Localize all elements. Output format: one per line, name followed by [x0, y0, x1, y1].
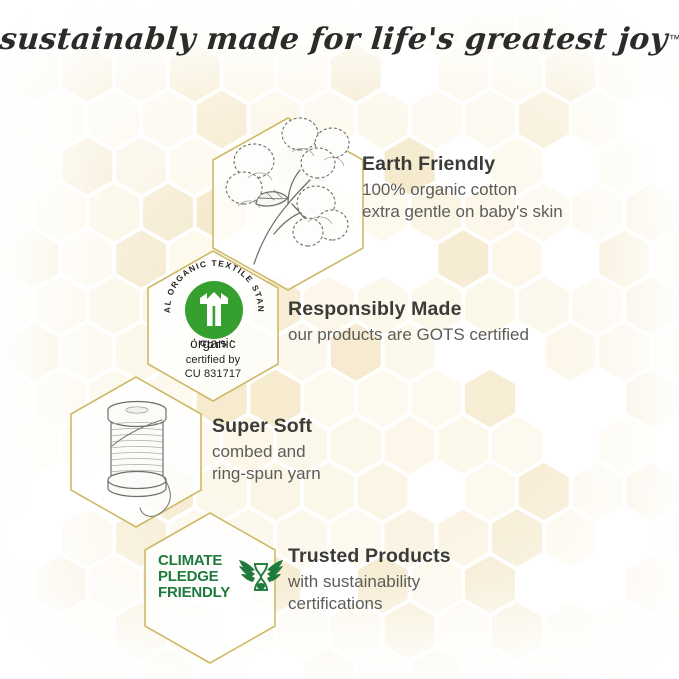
feature-line-responsibly-made-0: our products are GOTS certified: [288, 324, 529, 347]
tagline-text: sustainably made for life's greatest joy: [0, 22, 669, 57]
gots-license-number: CU 831717: [133, 368, 293, 382]
feature-line-trusted-products-1: certifications: [288, 593, 451, 616]
feature-title-trusted-products: Trusted Products: [288, 544, 451, 570]
gots-organic-label: organic: [133, 336, 293, 351]
feature-text-responsibly-made: Responsibly Made our products are GOTS c…: [288, 297, 529, 346]
infographic-canvas: sustainably made for life's greatest joy…: [0, 0, 679, 679]
cpf-line-1: CLIMATE: [158, 553, 230, 569]
feature-line-earth-friendly-0: 100% organic cotton: [362, 179, 563, 202]
feature-line-super-soft-1: ring-spun yarn: [212, 463, 321, 486]
climate-pledge-friendly-wordmark: CLIMATE PLEDGE FRIENDLY: [158, 553, 230, 602]
cpf-line-3: FRIENDLY: [158, 585, 230, 601]
feature-text-earth-friendly: Earth Friendly 100% organic cotton extra…: [362, 152, 563, 224]
gots-certified-by-label: certified by: [133, 354, 293, 368]
feature-title-earth-friendly: Earth Friendly: [362, 152, 563, 178]
feature-line-earth-friendly-1: extra gentle on baby's skin: [362, 201, 563, 224]
climate-pledge-friendly-icon: CLIMATE PLEDGE FRIENDLY: [158, 553, 284, 602]
feature-title-responsibly-made: Responsibly Made: [288, 297, 529, 323]
feature-title-super-soft: Super Soft: [212, 414, 321, 440]
feature-line-super-soft-0: combed and: [212, 441, 321, 464]
tagline: sustainably made for life's greatest joy…: [0, 22, 679, 57]
feature-line-trusted-products-0: with sustainability: [288, 571, 451, 594]
feature-text-trusted-products: Trusted Products with sustainability cer…: [288, 544, 451, 616]
cpf-line-2: PLEDGE: [158, 569, 230, 585]
trademark-symbol: ™: [669, 32, 679, 46]
feature-text-super-soft: Super Soft combed and ring-spun yarn: [212, 414, 321, 486]
gots-caption: organic certified by CU 831717: [133, 336, 293, 382]
winged-hourglass-icon: [238, 556, 284, 598]
